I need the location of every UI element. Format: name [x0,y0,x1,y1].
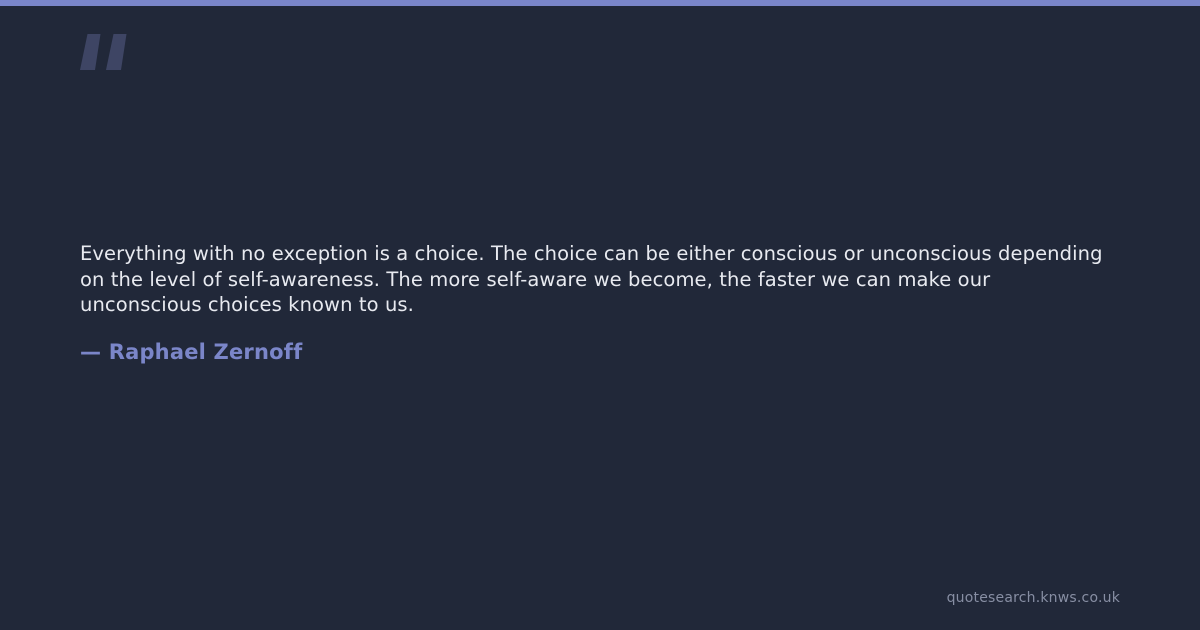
author-name: — Raphael Zernoff [80,340,302,364]
quote-text: Everything with no exception is a choice… [80,241,1110,318]
author-attribution: — Raphael Zernoff [80,340,302,364]
site-watermark: quotesearch.knws.co.uk [947,590,1120,606]
quote-body: Everything with no exception is a choice… [80,241,1110,318]
quote-card: Everything with no exception is a choice… [0,0,1200,630]
double-quote-open-icon [80,34,136,80]
top-accent-bar [0,0,1200,6]
